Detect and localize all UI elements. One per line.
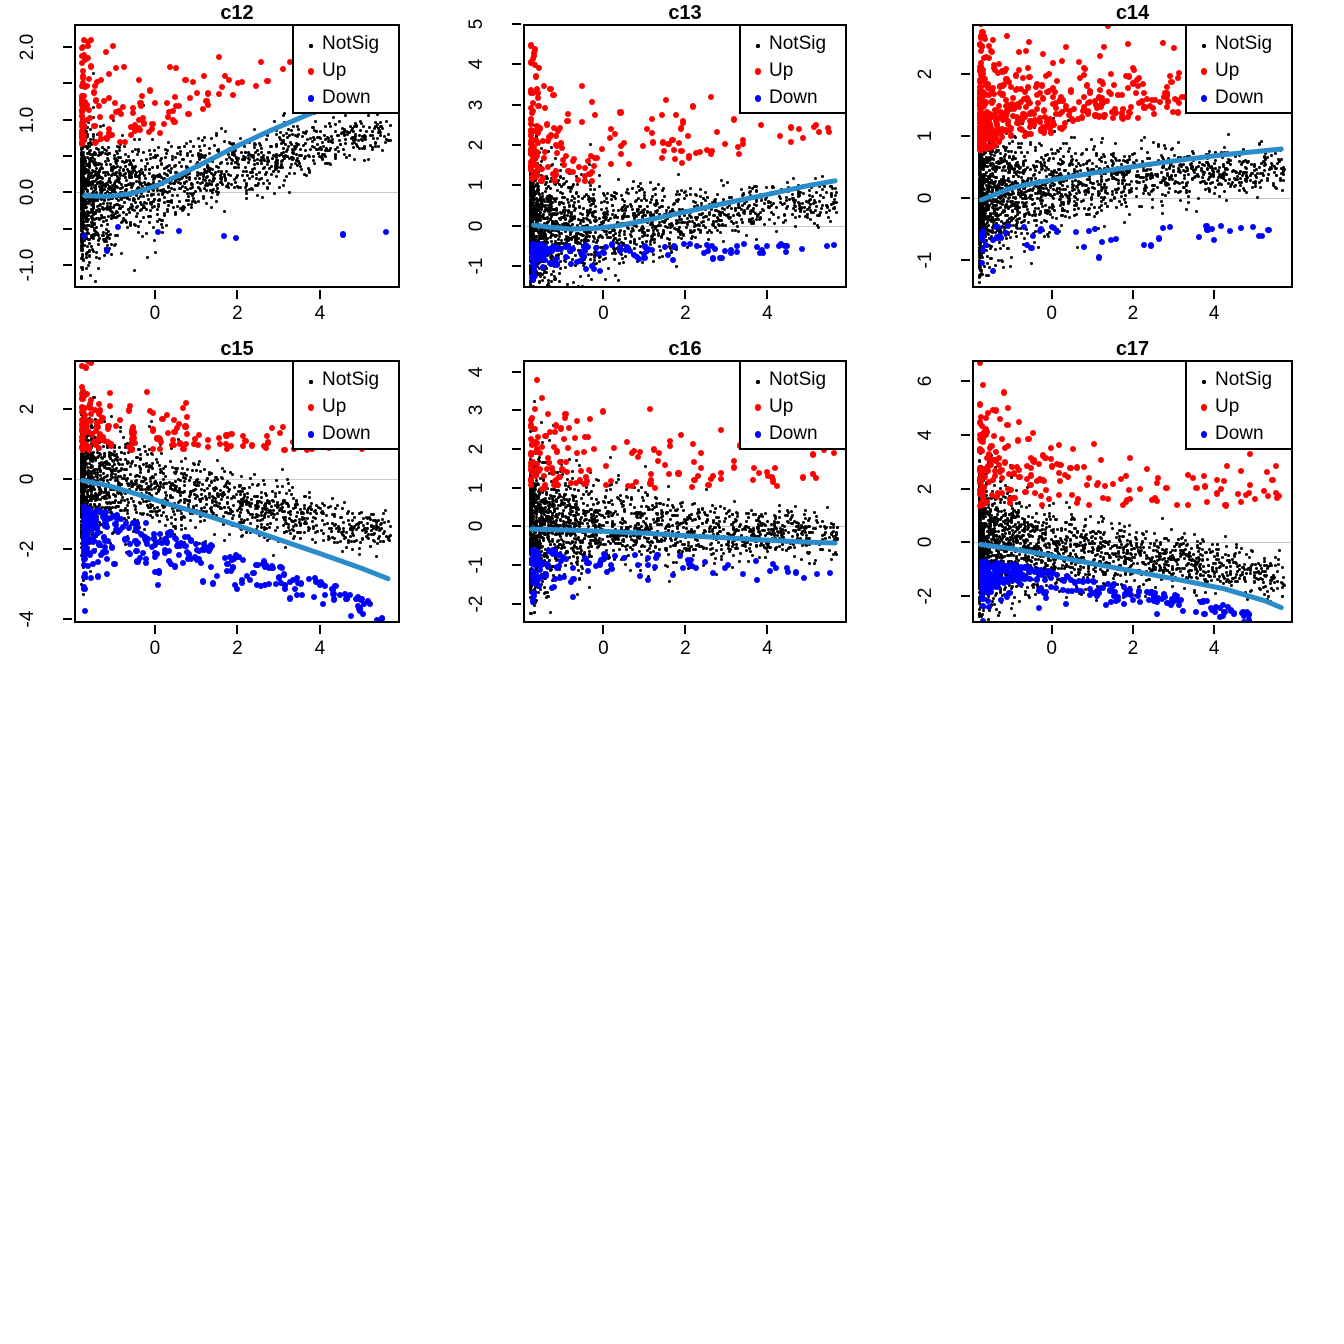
figure-canvas: c12NotSigUpDown-1.00.01.02.0024c13NotSig…: [0, 0, 1344, 1344]
